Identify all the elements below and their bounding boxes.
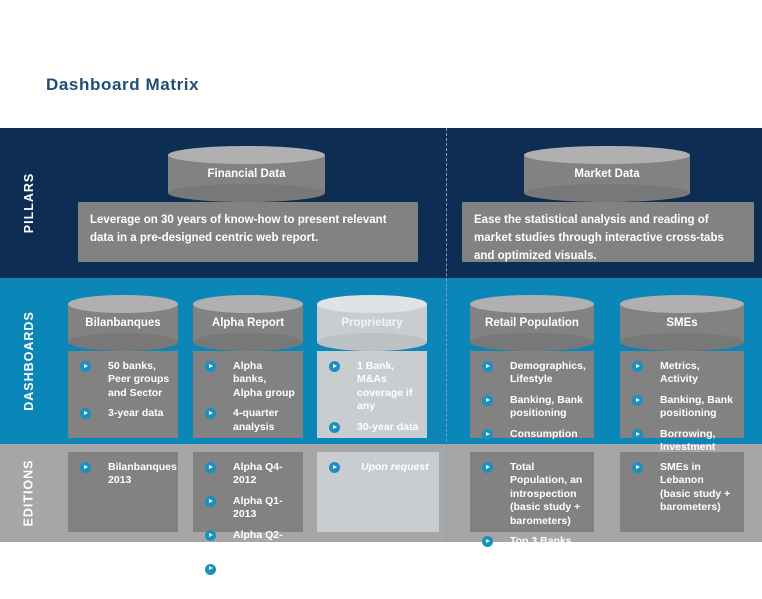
list-item: Borrowing, Investment <box>630 428 736 455</box>
edition-box-bilanbanques: Bilanbanques 2013 <box>68 452 178 532</box>
play-bullet-icon <box>80 408 91 419</box>
pillar-description-text: Ease the statistical analysis and readin… <box>462 202 754 275</box>
dashboard-box-retail-population: Demographics, Lifestyle Banking, Bank po… <box>470 351 594 438</box>
play-bullet-icon <box>205 496 216 507</box>
list-item: Upon request <box>327 461 431 474</box>
page-title: Dashboard Matrix <box>46 75 199 95</box>
dashboard-cylinder-alpha-report[interactable]: Alpha Report <box>193 295 303 351</box>
edition-bullet-list: Upon request <box>317 452 439 483</box>
row-label-editions-text: EDITIONS <box>22 459 36 526</box>
list-item: 3-year data <box>78 407 170 420</box>
dashboard-cylinder-label: Bilanbanques <box>68 295 178 351</box>
list-item: Top 3 Banks <box>480 535 586 548</box>
play-bullet-icon <box>80 361 91 372</box>
pillar-cylinder-label: Financial Data <box>168 146 325 202</box>
list-item-label: Top 3 Banks <box>510 535 572 547</box>
pillar-divider <box>446 128 447 542</box>
pillar-cylinder-financial-data[interactable]: Financial Data <box>168 146 325 202</box>
play-bullet-icon <box>482 361 493 372</box>
list-item: Demographics, Lifestyle <box>480 360 586 387</box>
list-item-label: Upon request <box>361 461 429 473</box>
play-bullet-icon <box>632 361 643 372</box>
list-item-label: 4-quarter analysis <box>233 407 279 432</box>
edition-bullet-list: Alpha Q4-2012 Alpha Q1-2013 Alpha Q2-201… <box>193 452 303 599</box>
dashboard-cylinder-bilanbanques[interactable]: Bilanbanques <box>68 295 178 351</box>
dashboard-bullet-list: 50 banks, Peer groups and Sector 3-year … <box>68 351 178 430</box>
dashboard-bullet-list: Demographics, Lifestyle Banking, Bank po… <box>470 351 594 450</box>
edition-bullet-list: Bilanbanques 2013 <box>68 452 178 497</box>
dashboard-box-smes: Metrics, Activity Banking, Bank position… <box>620 351 744 438</box>
dashboard-cylinder-proprietary[interactable]: Proprietary <box>317 295 427 351</box>
dashboard-cylinder-label: SMEs <box>620 295 744 351</box>
pillar-description-market-data: Ease the statistical analysis and readin… <box>462 202 754 262</box>
list-item-label: Alpha Q1-2013 <box>233 495 283 520</box>
list-item-label: Metrics, Activity <box>660 360 700 385</box>
play-bullet-icon <box>329 422 340 433</box>
row-label-dashboards-text: DASHBOARDS <box>22 311 36 411</box>
list-item: Alpha Q1-2013 <box>203 495 295 522</box>
list-item: 50 banks, Peer groups and Sector <box>78 360 170 400</box>
play-bullet-icon <box>80 462 91 473</box>
edition-box-smes: SMEs in Lebanon (basic study + barometer… <box>620 452 744 532</box>
pillars-band: PILLARS Financial Data Leverage on 30 ye… <box>0 128 762 278</box>
dashboard-cylinder-smes[interactable]: SMEs <box>620 295 744 351</box>
list-item-label: Total Population, an introspection (basi… <box>510 461 582 527</box>
list-item: Consumption <box>480 428 586 441</box>
play-bullet-icon <box>205 530 216 541</box>
list-item: Total Population, an introspection (basi… <box>480 461 586 528</box>
pillar-cylinder-label: Market Data <box>524 146 690 202</box>
list-item: SMEs in Lebanon (basic study + barometer… <box>630 461 736 515</box>
edition-bullet-list: SMEs in Lebanon (basic study + barometer… <box>620 452 744 524</box>
list-item: Alpha banks, Alpha group <box>203 360 295 400</box>
play-bullet-icon <box>482 536 493 547</box>
list-item-label: Alpha Q4-2012 <box>233 461 283 486</box>
dashboard-cylinder-retail-population[interactable]: Retail Population <box>470 295 594 351</box>
list-item-label: Consumption <box>510 428 578 440</box>
play-bullet-icon <box>482 462 493 473</box>
dashboard-cylinder-label: Proprietary <box>317 295 427 351</box>
play-bullet-icon <box>205 408 216 419</box>
play-bullet-icon <box>205 564 216 575</box>
play-bullet-icon <box>329 361 340 372</box>
play-bullet-icon <box>632 462 643 473</box>
dashboard-box-bilanbanques: 50 banks, Peer groups and Sector 3-year … <box>68 351 178 438</box>
row-label-dashboards: DASHBOARDS <box>0 278 58 444</box>
list-item-label: Borrowing, Investment <box>660 428 715 453</box>
row-label-pillars: PILLARS <box>0 128 58 278</box>
list-item: Banking, Bank positioning <box>630 394 736 421</box>
play-bullet-icon <box>632 429 643 440</box>
list-item: Banking, Bank positioning <box>480 394 586 421</box>
edition-box-alpha: Alpha Q4-2012 Alpha Q1-2013 Alpha Q2-201… <box>193 452 303 532</box>
pillar-cylinder-market-data[interactable]: Market Data <box>524 146 690 202</box>
list-item: 4-quarter analysis <box>203 407 295 434</box>
edition-box-proprietary: Upon request <box>317 452 439 532</box>
list-item-label: 30-year data <box>357 421 418 433</box>
editions-band: EDITIONS Bilanbanques 2013 Alpha Q4-2012… <box>0 444 762 542</box>
list-item-label: Demographics, Lifestyle <box>510 360 586 385</box>
list-item-label: Alpha banks, Alpha group <box>233 360 295 399</box>
list-item-label: Alpha Q2-2013 <box>233 529 283 554</box>
dashboard-bullet-list: Alpha banks, Alpha group 4-quarter analy… <box>193 351 303 443</box>
list-item-label: Alpha Q3-2013 <box>233 563 283 588</box>
dashboards-band: DASHBOARDS Bilanbanques 50 banks, Peer g… <box>0 278 762 444</box>
list-item: 1 Bank, M&As coverage if any <box>327 360 419 414</box>
dashboard-box-alpha-report: Alpha banks, Alpha group 4-quarter analy… <box>193 351 303 438</box>
pillar-description-financial-data: Leverage on 30 years of know-how to pres… <box>78 202 418 262</box>
play-bullet-icon <box>632 395 643 406</box>
list-item: Bilanbanques 2013 <box>78 461 170 488</box>
dashboard-cylinder-label: Retail Population <box>470 295 594 351</box>
dashboard-cylinder-label: Alpha Report <box>193 295 303 351</box>
dashboard-box-proprietary: 1 Bank, M&As coverage if any 30-year dat… <box>317 351 427 438</box>
play-bullet-icon <box>482 395 493 406</box>
list-item: Alpha Q3-2013 <box>203 563 295 590</box>
play-bullet-icon <box>205 361 216 372</box>
row-label-editions: EDITIONS <box>0 444 58 542</box>
dashboard-bullet-list: Metrics, Activity Banking, Bank position… <box>620 351 744 464</box>
list-item: 30-year data <box>327 421 419 434</box>
list-item-label: Banking, Bank positioning <box>510 394 583 419</box>
list-item: Metrics, Activity <box>630 360 736 387</box>
edition-box-retail-population: Total Population, an introspection (basi… <box>470 452 594 532</box>
play-bullet-icon <box>482 429 493 440</box>
pillar-description-text: Leverage on 30 years of know-how to pres… <box>78 202 418 258</box>
list-item-label: 1 Bank, M&As coverage if any <box>357 360 412 412</box>
list-item: Alpha Q4-2012 <box>203 461 295 488</box>
list-item-label: Banking, Bank positioning <box>660 394 733 419</box>
edition-bullet-list: Total Population, an introspection (basi… <box>470 452 594 558</box>
play-bullet-icon <box>205 462 216 473</box>
list-item-label: 50 banks, Peer groups and Sector <box>108 360 169 399</box>
list-item-label: 3-year data <box>108 407 163 419</box>
list-item: Alpha Q2-2013 <box>203 529 295 556</box>
play-bullet-icon <box>329 462 340 473</box>
list-item-label: SMEs in Lebanon (basic study + barometer… <box>660 461 730 513</box>
row-label-pillars-text: PILLARS <box>22 173 36 233</box>
dashboard-bullet-list: 1 Bank, M&As coverage if any 30-year dat… <box>317 351 427 443</box>
list-item-label: Bilanbanques 2013 <box>108 461 177 486</box>
